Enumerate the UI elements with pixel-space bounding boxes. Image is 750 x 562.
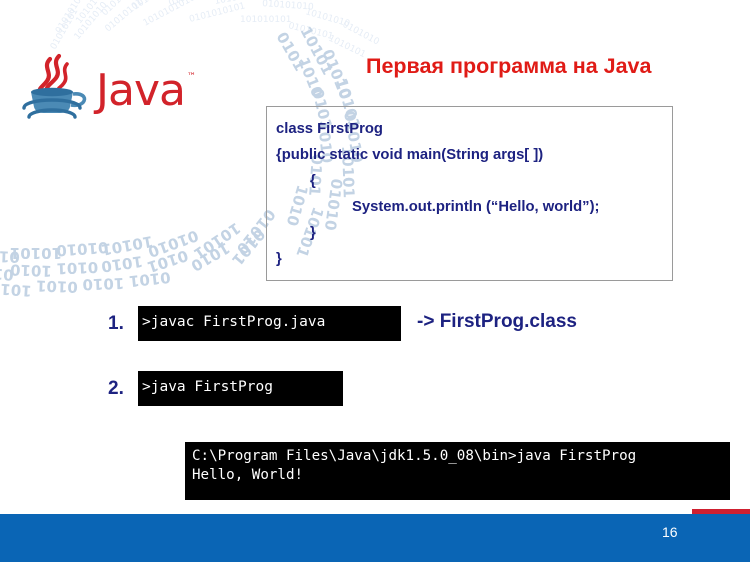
compile-output-label: -> FirstProg.class [417,311,577,333]
svg-text:1010: 1010 [294,55,326,100]
svg-text:01010: 01010 [318,47,354,102]
slide: 010101010 101010101 0101010101 101010101… [0,0,750,562]
code-line: } [276,220,672,246]
svg-text:0101: 0101 [56,258,98,277]
footer-accent-red [692,509,750,514]
footer-bar [0,514,750,562]
svg-text:01010101: 01010101 [287,21,334,42]
svg-text:0101: 0101 [128,268,171,290]
svg-text:0101010101: 0101010101 [188,1,246,25]
svg-text:101010101: 101010101 [240,15,292,25]
page-number: 16 [662,524,678,540]
svg-text:10101010: 10101010 [73,0,110,42]
svg-text:1010: 1010 [10,261,52,280]
svg-text:10101: 10101 [190,219,243,263]
java-wordmark: Java ™ [96,63,185,113]
svg-text:0101: 0101 [273,29,309,74]
console-output-line: Hello, World! [192,467,303,483]
svg-text:10101010: 10101010 [304,7,351,29]
svg-text:1010: 1010 [0,279,32,300]
svg-text:10101: 10101 [100,232,155,259]
svg-text:010: 010 [0,264,14,284]
svg-text:0101: 0101 [228,225,269,269]
svg-text:101010101: 101010101 [74,0,114,26]
svg-text:0101010: 0101010 [341,20,381,48]
run-step: 2. >java FirstProg [108,371,343,406]
svg-text:010101010: 010101010 [262,0,314,13]
svg-text:1010: 1010 [82,274,124,293]
java-wordmark-text: Java [96,65,185,116]
svg-text:1010101010: 1010101010 [142,0,197,29]
java-coffee-cup-icon [18,52,92,124]
java-logo: Java ™ [18,52,218,124]
code-line: } [276,246,672,272]
code-line: { [276,168,672,194]
svg-text:01010101: 01010101 [104,0,146,34]
svg-text:1010: 1010 [188,239,233,275]
svg-text:0101: 0101 [145,246,190,276]
svg-text:0101: 0101 [0,247,20,266]
svg-text:10101: 10101 [10,244,62,262]
trademark-icon: ™ [187,73,195,82]
svg-text:0101010101: 0101010101 [100,0,148,18]
console-output-window: C:\Program Files\Java\jdk1.5.0_08\bin>ja… [185,442,730,500]
code-line: System.out.println (“Hello, world”); [276,194,672,220]
run-command-terminal: >java FirstProg [138,371,343,406]
svg-text:01010101010: 01010101010 [167,0,229,9]
code-listing-box: class FirstProg {public static void main… [266,106,673,281]
svg-text:10101: 10101 [296,23,336,78]
code-line: {public static void main(String args[ ]) [276,142,672,168]
svg-text:01010: 01010 [146,226,201,261]
compile-command-terminal: >javac FirstProg.java [138,306,401,341]
step-number: 2. [108,378,138,400]
svg-text:0101: 0101 [36,277,78,296]
svg-text:01010101: 01010101 [49,7,81,52]
compile-step: 1. >javac FirstProg.java [108,306,401,341]
svg-text:1010101: 1010101 [327,34,367,61]
page-title: Первая программа на Java [366,54,651,79]
svg-text:1010101010: 1010101010 [214,0,272,7]
console-prompt-line: C:\Program Files\Java\jdk1.5.0_08\bin>ja… [192,448,636,464]
svg-text:1010: 1010 [100,252,144,276]
step-number: 1. [108,313,138,335]
svg-text:101010101: 101010101 [131,0,179,12]
svg-text:010101010: 010101010 [54,0,90,36]
code-line: class FirstProg [276,116,672,142]
svg-text:01010: 01010 [56,238,109,260]
